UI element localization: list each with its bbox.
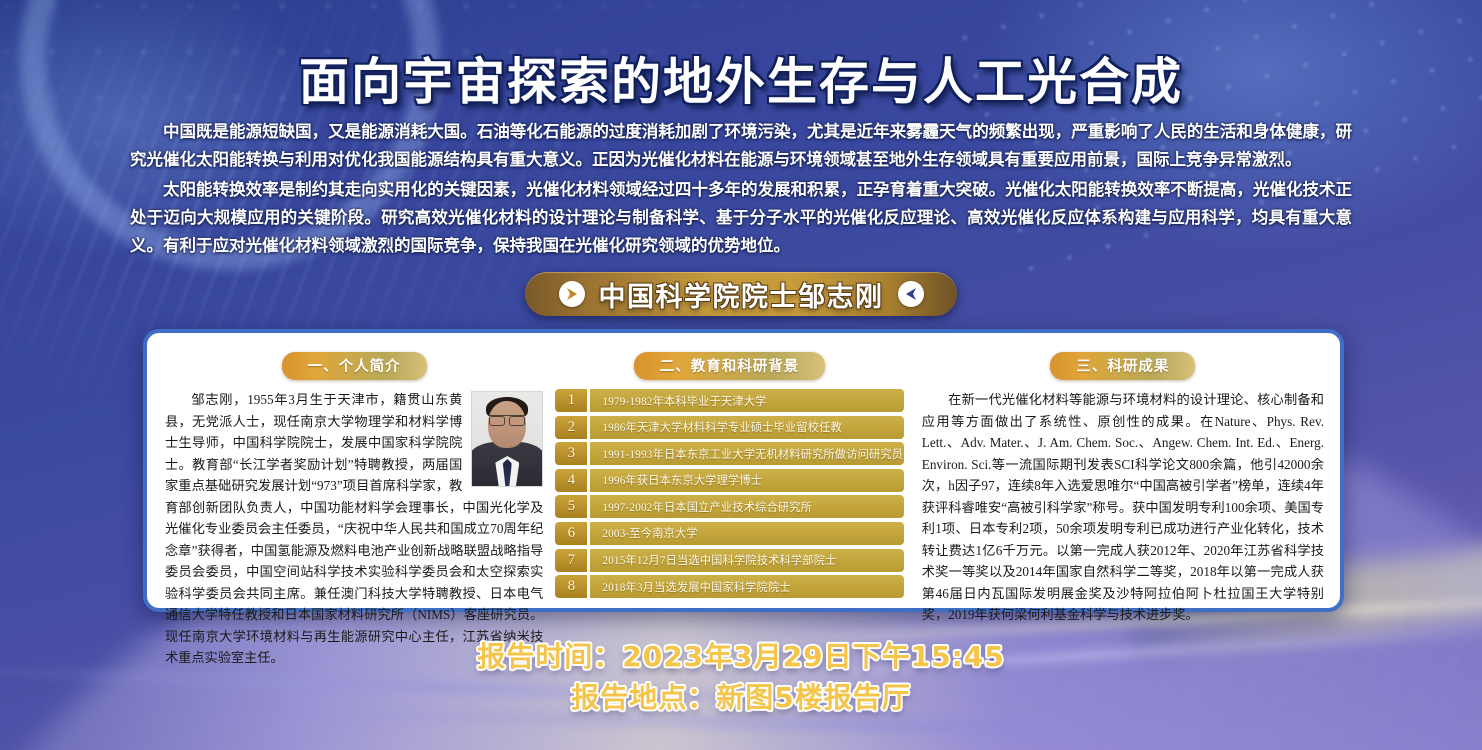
list-item: 6 2003-至今南京大学 [555, 522, 903, 545]
timeline-number: 5 [555, 495, 587, 518]
section-pill-achievements: 三、科研成果 [1050, 352, 1195, 380]
list-item: 4 1996年获日本东京大学理学博士 [555, 469, 903, 492]
section-pill-education: 二、教育和科研背景 [634, 352, 826, 380]
footer-info: 报告时间：2023年3月29日下午15:45 报告地点：新图5楼报告厅 [0, 636, 1482, 718]
glasses-icon [489, 415, 525, 424]
education-timeline-list: 1 1979-1982年本科毕业于天津大学 2 1986年天津大学材料科学专业硕… [555, 389, 903, 598]
research-achievements-text: 在新一代光催化材料等能源与环境材料的设计理论、核心制备和应用等方面做出了系统性、… [922, 389, 1324, 626]
report-time-label: 报告时间：2023年3月29日下午15:45 [0, 636, 1482, 677]
timeline-number: 3 [555, 442, 587, 465]
list-item: 5 1997-2002年日本国立产业技术综合研究所 [555, 495, 903, 518]
timeline-text: 2003-至今南京大学 [590, 522, 903, 545]
poster-title-area: 面向宇宙探索的地外生存与人工光合成 [0, 42, 1482, 114]
timeline-number: 6 [555, 522, 587, 545]
poster-root: 面向宇宙探索的地外生存与人工光合成 中国既是能源短缺国，又是能源消耗大国。石油等… [0, 0, 1482, 750]
speaker-name-label: 中国科学院院士邹志刚 [599, 275, 884, 314]
timeline-text: 1996年获日本东京大学理学博士 [590, 469, 903, 492]
list-item: 2 1986年天津大学材料科学专业硕士毕业留校任教 [555, 416, 903, 439]
column-research-achievements: 三、科研成果 在新一代光催化材料等能源与环境材料的设计理论、核心制备和应用等方面… [908, 341, 1330, 598]
timeline-text: 1997-2002年日本国立产业技术综合研究所 [590, 495, 903, 518]
list-item: 8 2018年3月当选发展中国家科学院院士 [555, 575, 903, 598]
page-title: 面向宇宙探索的地外生存与人工光合成 [299, 42, 1183, 114]
intro-paragraph-1: 中国既是能源短缺国，又是能源消耗大国。石油等化石能源的过度消耗加剧了环境污染，尤… [130, 118, 1352, 174]
speaker-banner: 中国科学院院士邹志刚 [525, 272, 957, 316]
timeline-text: 1986年天津大学材料科学专业硕士毕业留校任教 [590, 416, 903, 439]
research-achievements-paragraph: 在新一代光催化材料等能源与环境材料的设计理论、核心制备和应用等方面做出了系统性、… [922, 389, 1324, 626]
intro-text-block: 中国既是能源短缺国，又是能源消耗大国。石油等化石能源的过度消耗加剧了环境污染，尤… [130, 118, 1352, 262]
play-left-arrow-icon [898, 281, 924, 307]
avatar [471, 391, 543, 487]
report-place-label: 报告地点：新图5楼报告厅 [0, 677, 1482, 718]
play-right-arrow-icon [559, 281, 585, 307]
timeline-text: 2018年3月当选发展中国家科学院院士 [590, 575, 903, 598]
list-item: 3 1991-1993年日本东京工业大学无机材料研究所做访问研究员 [555, 442, 903, 465]
profile-card: 一、个人简介 邹志刚，1955年3月生于天津市，籍贯山东黄县，无党派人士，现任南… [143, 329, 1344, 612]
timeline-number: 7 [555, 549, 587, 572]
column-education-background: 二、教育和科研背景 1 1979-1982年本科毕业于天津大学 2 1986年天… [551, 341, 907, 598]
timeline-number: 1 [555, 389, 587, 412]
timeline-number: 8 [555, 575, 587, 598]
section-heading-achievements: 三、科研成果 [922, 352, 1324, 380]
list-item: 7 2015年12月7日当选中国科学院技术科学部院士 [555, 549, 903, 572]
personal-profile-text: 邹志刚，1955年3月生于天津市，籍贯山东黄县，无党派人士，现任南京大学物理学和… [165, 389, 543, 669]
section-pill-personal: 一、个人简介 [282, 352, 427, 380]
timeline-number: 4 [555, 469, 587, 492]
section-heading-education: 二、教育和科研背景 [555, 352, 903, 380]
timeline-text: 2015年12月7日当选中国科学院技术科学部院士 [590, 549, 903, 572]
timeline-text: 1979-1982年本科毕业于天津大学 [590, 389, 903, 412]
list-item: 1 1979-1982年本科毕业于天津大学 [555, 389, 903, 412]
column-personal-profile: 一、个人简介 邹志刚，1955年3月生于天津市，籍贯山东黄县，无党派人士，现任南… [157, 341, 551, 598]
intro-paragraph-2: 太阳能转换效率是制约其走向实用化的关键因素，光催化材料领域经过四十多年的发展和积… [130, 176, 1352, 260]
section-heading-personal: 一、个人简介 [165, 352, 543, 380]
timeline-text: 1991-1993年日本东京工业大学无机材料研究所做访问研究员 [590, 442, 903, 465]
timeline-number: 2 [555, 416, 587, 439]
